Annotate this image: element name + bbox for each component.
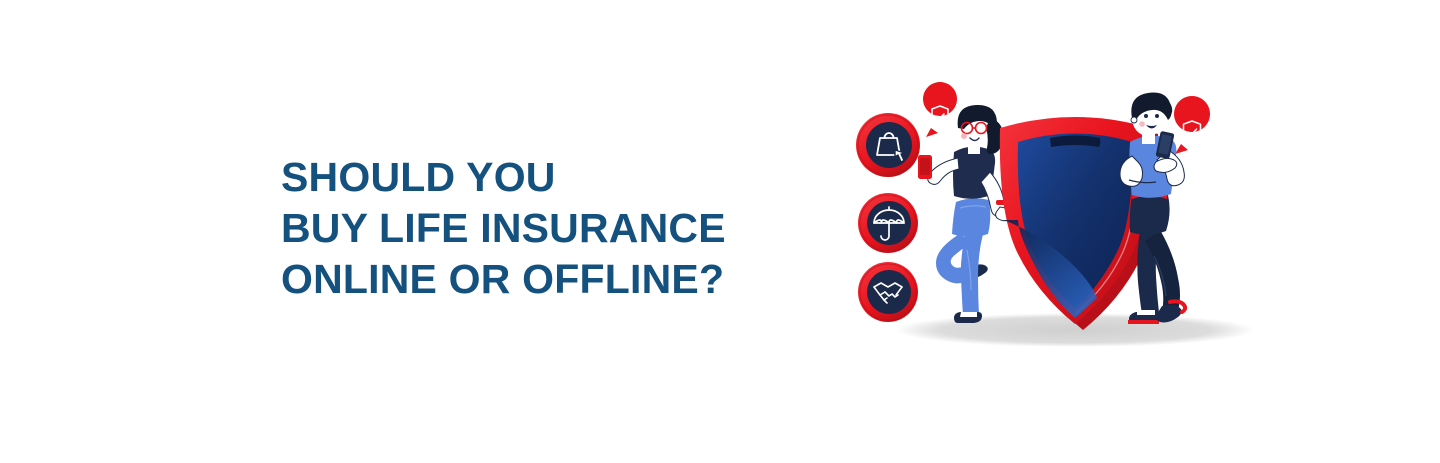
- online-shopping-badge[interactable]: [856, 113, 920, 177]
- badge-list: [856, 113, 920, 322]
- life-insurance-shield-illustration: [840, 80, 1290, 370]
- banner: SHOULD YOU BUY LIFE INSURANCE ONLINE OR …: [0, 0, 1440, 463]
- page-title: SHOULD YOU BUY LIFE INSURANCE ONLINE OR …: [281, 152, 801, 305]
- agent-deal-badge[interactable]: [858, 262, 918, 322]
- woman-with-phone: [918, 105, 1014, 323]
- protection-badge[interactable]: [858, 193, 918, 253]
- headline-line-3: ONLINE OR OFFLINE?: [281, 254, 801, 305]
- headline-line-2: BUY LIFE INSURANCE: [281, 203, 801, 254]
- left-speech-bubble: [923, 82, 957, 137]
- right-speech-bubble: [1174, 96, 1210, 154]
- headline-line-1: SHOULD YOU: [281, 152, 801, 203]
